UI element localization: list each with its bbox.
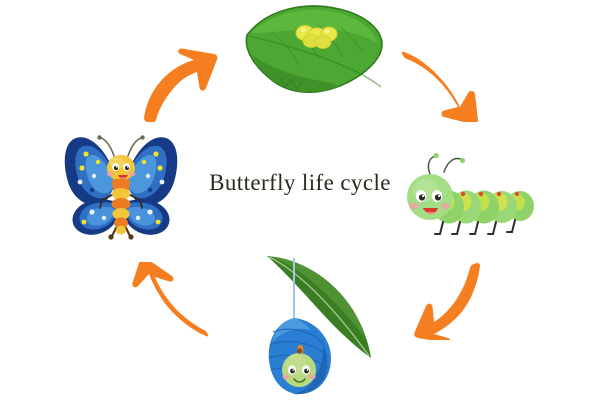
stage-larva xyxy=(404,152,538,244)
arrow-down-left-icon xyxy=(402,262,488,340)
butterfly-icon xyxy=(58,128,184,242)
stage-pupa xyxy=(253,252,377,398)
butterfly-life-cycle-diagram: Butterfly life cycle xyxy=(0,0,600,413)
arrow-pupa-to-adult xyxy=(122,262,212,340)
stage-egg xyxy=(243,3,385,95)
arrow-adult-to-egg xyxy=(136,46,220,122)
arrow-larva-to-pupa xyxy=(402,262,488,340)
chrysalis-icon xyxy=(253,252,377,398)
arrow-egg-to-larva xyxy=(398,46,484,122)
arrow-up-right-icon xyxy=(136,46,220,122)
arrow-down-right-icon xyxy=(398,46,484,122)
stage-adult xyxy=(58,128,184,242)
arrow-up-left-icon xyxy=(122,262,212,340)
caterpillar-icon xyxy=(404,152,538,244)
leaf-with-eggs-icon xyxy=(243,3,385,95)
